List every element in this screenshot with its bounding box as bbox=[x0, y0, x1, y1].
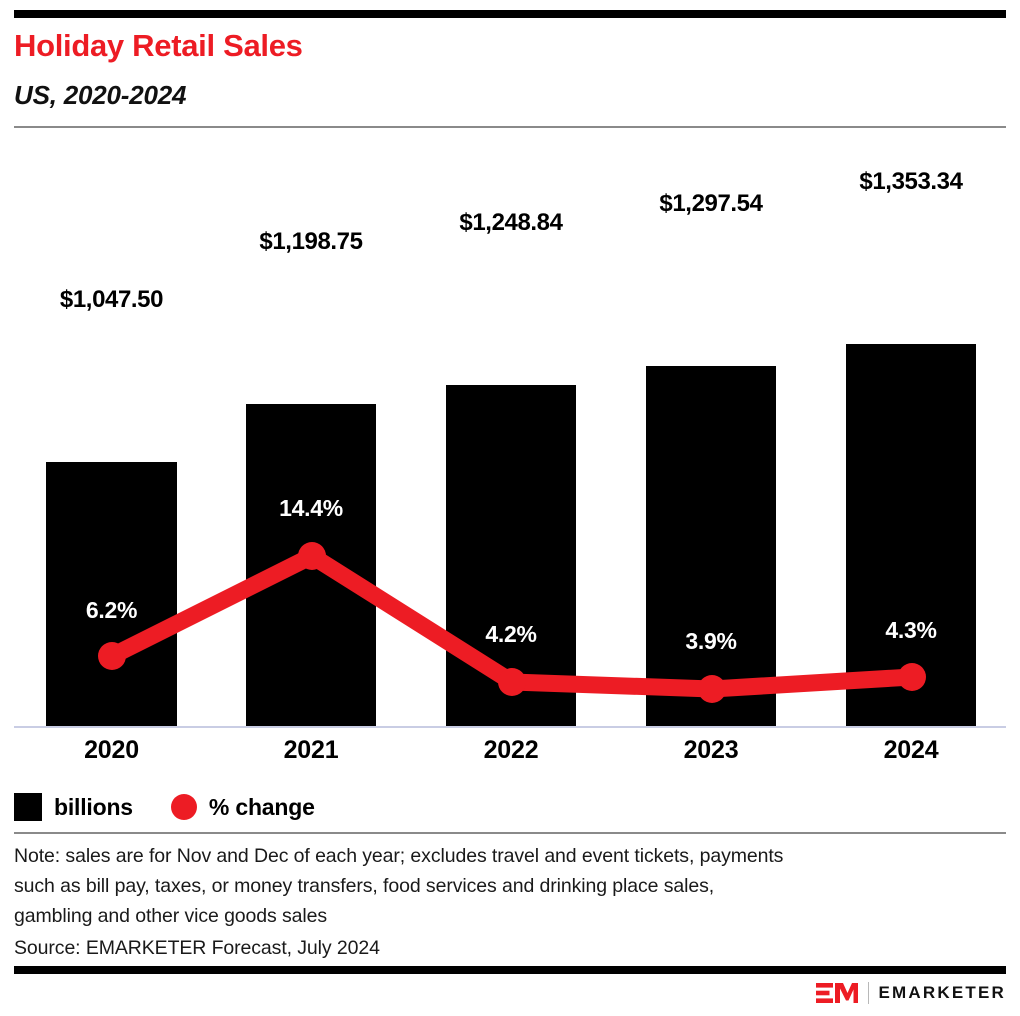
page-subtitle: US, 2020-2024 bbox=[14, 79, 186, 111]
chart-legend: billions % change bbox=[14, 790, 353, 824]
legend-divider bbox=[14, 832, 1006, 834]
line-marker-2020 bbox=[98, 642, 126, 670]
circle-swatch-icon bbox=[171, 794, 197, 820]
square-swatch-icon bbox=[14, 793, 42, 821]
note-line-2: such as bill pay, taxes, or money transf… bbox=[14, 871, 974, 901]
brand-lockup: EMARKETER bbox=[816, 980, 1006, 1006]
chart-plot-area: $1,047.50 $1,198.75 $1,248.84 $1,297.54 … bbox=[0, 140, 1020, 730]
legend-label-percent-change: % change bbox=[209, 794, 315, 821]
page-title: Holiday Retail Sales bbox=[14, 27, 303, 65]
chart-page: Holiday Retail Sales US, 2020-2024 $1,04… bbox=[0, 0, 1020, 1016]
note-line-3: gambling and other vice goods sales bbox=[14, 901, 974, 931]
legend-item-billions: billions bbox=[14, 793, 133, 821]
brand-divider bbox=[868, 982, 869, 1004]
line-marker-2024 bbox=[898, 663, 926, 691]
legend-item-percent-change: % change bbox=[171, 794, 315, 821]
x-tick-2020: 2020 bbox=[46, 736, 177, 765]
pct-label-2020: 6.2% bbox=[46, 597, 177, 624]
top-rule bbox=[14, 10, 1006, 18]
line-marker-2022 bbox=[498, 668, 526, 696]
pct-label-2021: 14.4% bbox=[246, 495, 376, 522]
em-logo-icon bbox=[816, 982, 858, 1004]
pct-label-2024: 4.3% bbox=[846, 617, 976, 644]
header-divider bbox=[14, 126, 1006, 128]
brand-name: EMARKETER bbox=[879, 983, 1006, 1003]
notes-block: Note: sales are for Nov and Dec of each … bbox=[14, 841, 974, 963]
x-tick-2023: 2023 bbox=[646, 736, 776, 765]
x-tick-2022: 2022 bbox=[446, 736, 576, 765]
x-axis-labels: 2020 2021 2022 2023 2024 bbox=[0, 736, 1020, 776]
bottom-rule bbox=[14, 966, 1006, 974]
note-line-1: Note: sales are for Nov and Dec of each … bbox=[14, 841, 974, 871]
pct-label-2023: 3.9% bbox=[646, 628, 776, 655]
source-line: Source: EMARKETER Forecast, July 2024 bbox=[14, 933, 974, 963]
line-marker-2023 bbox=[698, 675, 726, 703]
line-marker-2021 bbox=[298, 542, 326, 570]
legend-label-billions: billions bbox=[54, 794, 133, 821]
pct-label-2022: 4.2% bbox=[446, 621, 576, 648]
x-tick-2021: 2021 bbox=[246, 736, 376, 765]
x-tick-2024: 2024 bbox=[846, 736, 976, 765]
